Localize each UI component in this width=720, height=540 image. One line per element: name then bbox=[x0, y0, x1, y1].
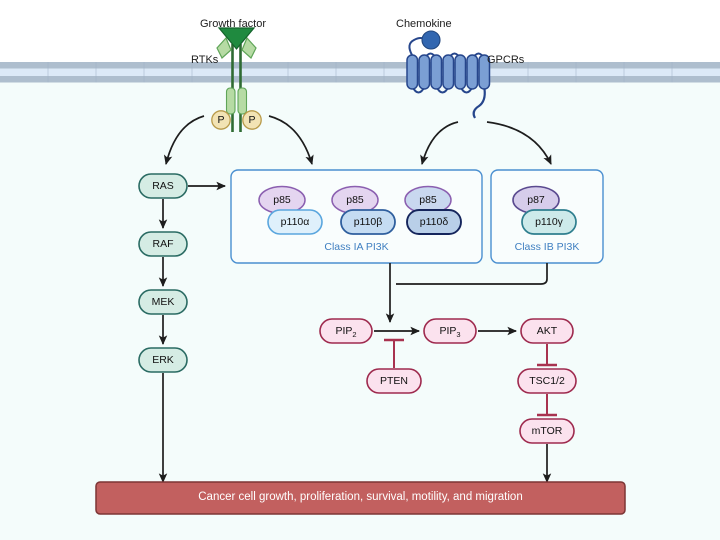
node-raf[interactable] bbox=[139, 232, 187, 256]
node-mtor[interactable] bbox=[520, 419, 574, 443]
phospho-circle-right bbox=[243, 111, 261, 129]
intracellular-region bbox=[0, 82, 720, 540]
rtk-tm-left bbox=[227, 88, 236, 114]
node-pip3[interactable] bbox=[424, 319, 476, 343]
extracellular-region bbox=[0, 0, 720, 62]
node-pip2[interactable] bbox=[320, 319, 372, 343]
phospho-circle-left bbox=[212, 111, 230, 129]
rtk-tm-right bbox=[238, 88, 247, 114]
pathway-diagram: Growth factor RTKs Chemokine GPCRs RAS R… bbox=[0, 0, 720, 540]
outcome-banner[interactable] bbox=[96, 482, 625, 514]
node-tsc12[interactable] bbox=[518, 369, 576, 393]
pathway-canvas bbox=[0, 0, 720, 540]
plasma-membrane bbox=[0, 62, 720, 83]
node-ras[interactable] bbox=[139, 174, 187, 198]
node-erk[interactable] bbox=[139, 348, 187, 372]
node-mek[interactable] bbox=[139, 290, 187, 314]
node-akt[interactable] bbox=[521, 319, 573, 343]
chemokine-ligand bbox=[422, 31, 440, 49]
node-pten[interactable] bbox=[367, 369, 421, 393]
